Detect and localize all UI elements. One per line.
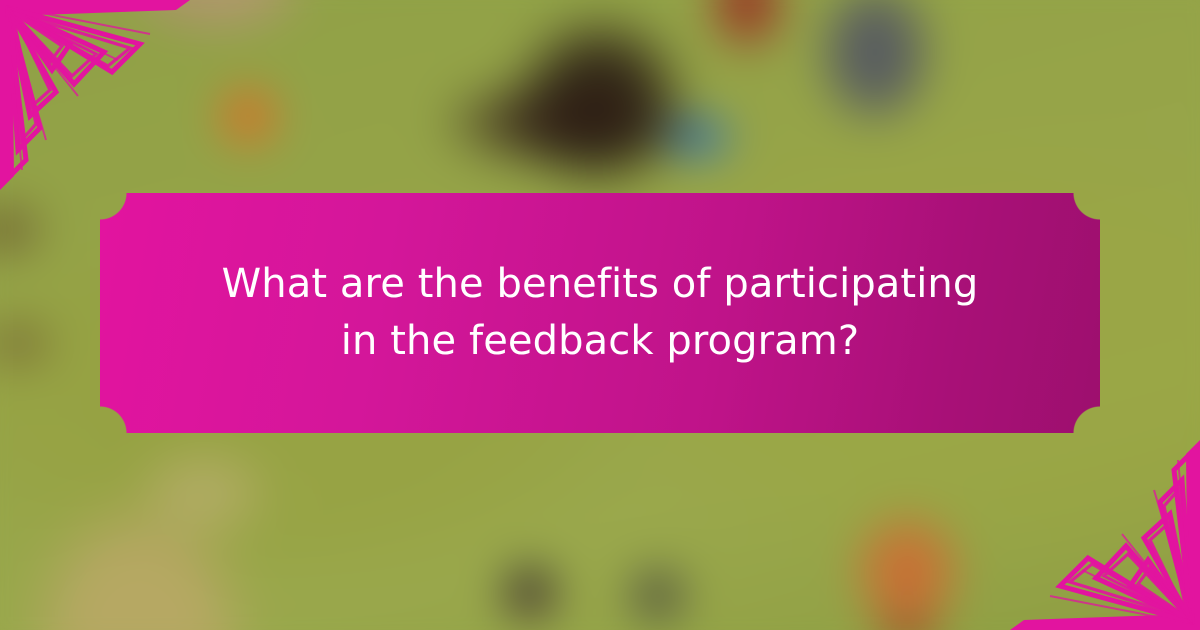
question-card-stage: What are the benefits of participating i… (0, 0, 1200, 630)
question-text: What are the benefits of participating i… (200, 256, 1000, 370)
question-banner: What are the benefits of participating i… (100, 193, 1100, 433)
